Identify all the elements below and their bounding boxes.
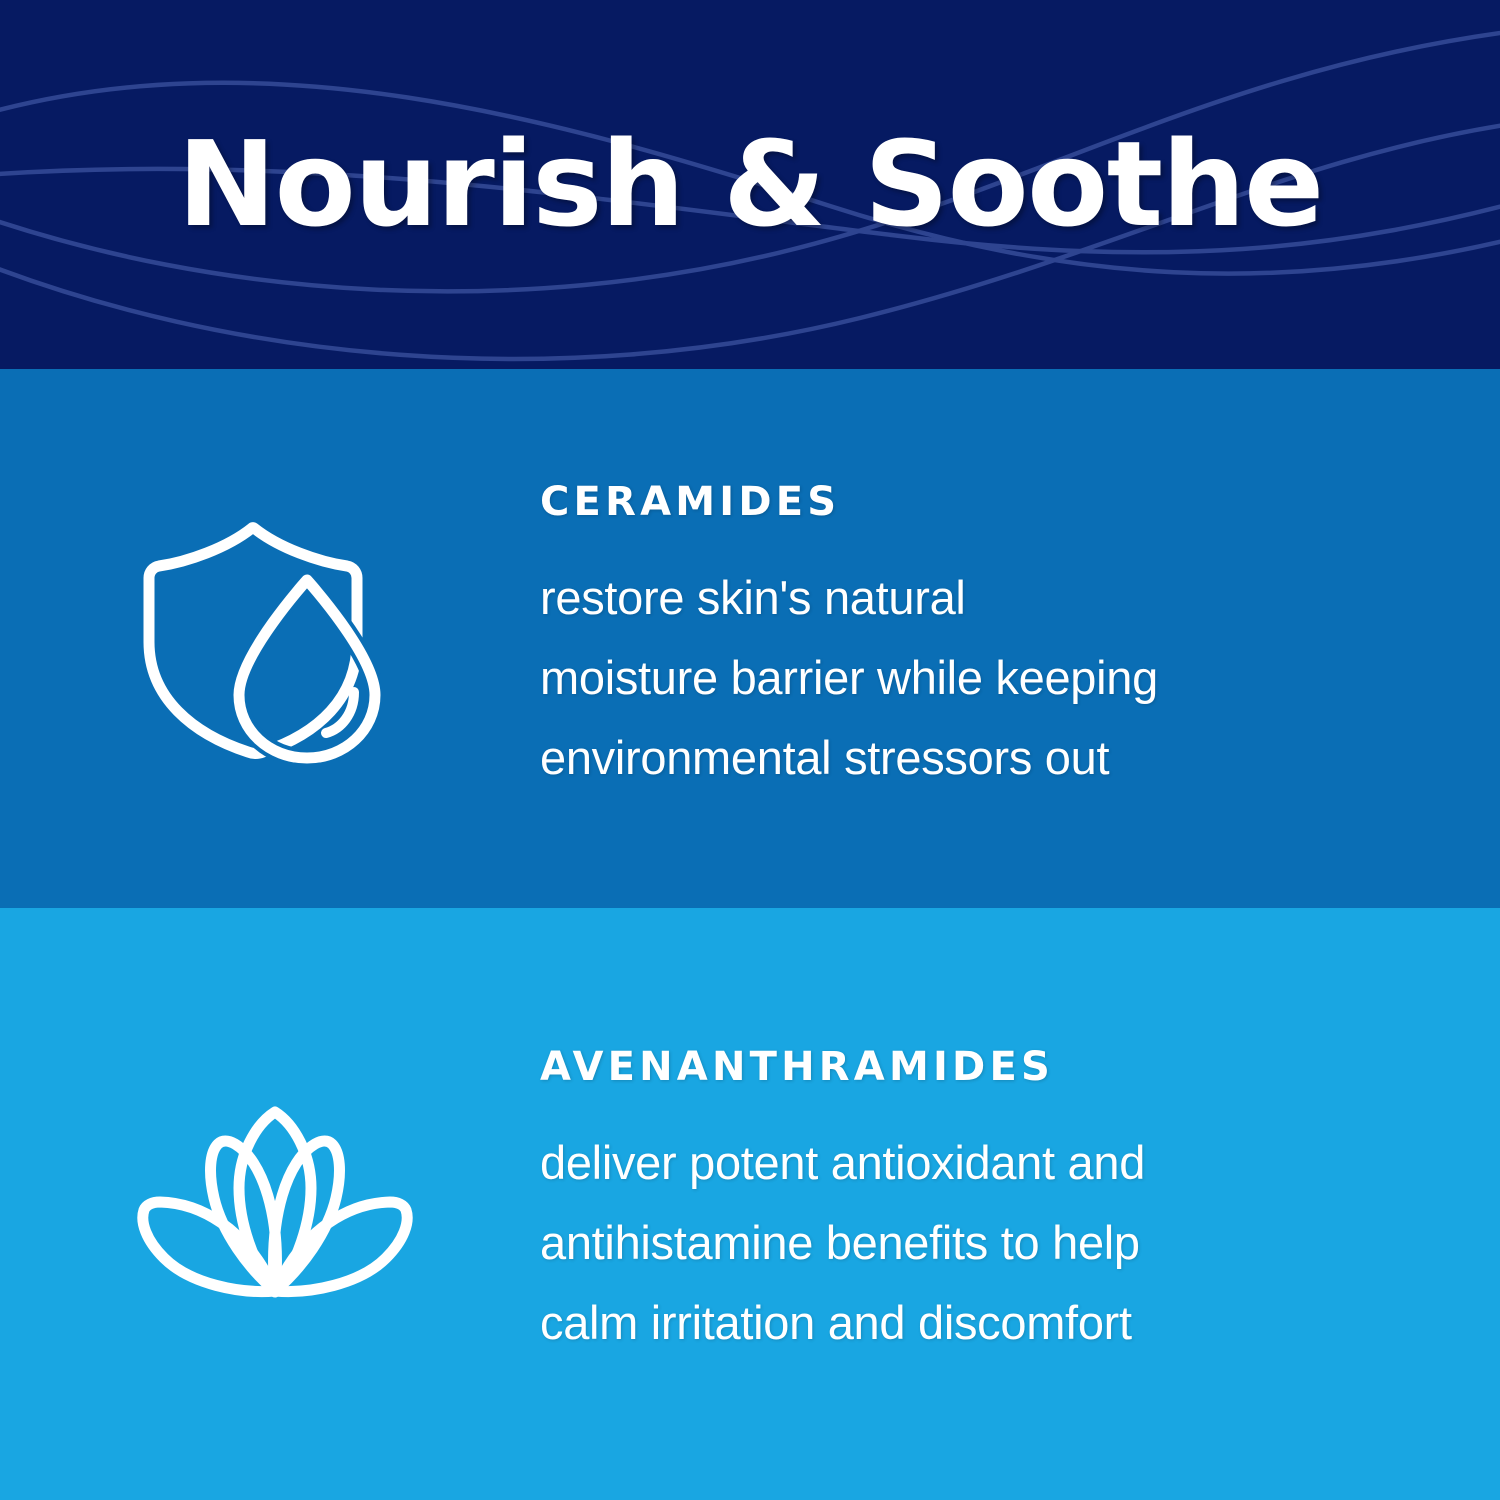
ceramides-body-line: environmental stressors out: [540, 718, 1380, 798]
ceramides-heading: CERAMIDES: [540, 480, 1380, 524]
poster-header: Nourish & Soothe: [0, 0, 1500, 369]
ceramides-body-line: restore skin's natural: [540, 558, 1380, 638]
ceramides-body: restore skin's natural moisture barrier …: [540, 558, 1380, 798]
ceramides-text-block: CERAMIDES restore skin's natural moistur…: [540, 480, 1500, 798]
ceramides-body-line: moisture barrier while keeping: [540, 638, 1380, 718]
avenanthramides-body: deliver potent antioxidant and antihista…: [540, 1123, 1380, 1363]
shield-droplet-icon: [135, 514, 415, 764]
avenanthramides-text-block: AVENANTHRAMIDES deliver potent antioxida…: [540, 1045, 1500, 1363]
avenanthramides-body-line: calm irritation and discomfort: [540, 1283, 1380, 1363]
ingredient-benefits-poster: Nourish & Soothe CERAMIDES restore skin'…: [0, 0, 1500, 1500]
avenanthramides-body-line: deliver potent antioxidant and: [540, 1123, 1380, 1203]
page-title: Nourish & Soothe: [0, 123, 1500, 247]
section-ceramides: CERAMIDES restore skin's natural moistur…: [0, 369, 1500, 908]
avenanthramides-heading: AVENANTHRAMIDES: [540, 1045, 1380, 1089]
ceramides-icon-wrapper: [0, 514, 540, 764]
avenanthramides-body-line: antihistamine benefits to help: [540, 1203, 1380, 1283]
lotus-flower-icon: [136, 1106, 414, 1302]
section-avenanthramides: AVENANTHRAMIDES deliver potent antioxida…: [0, 908, 1500, 1500]
avenanthramides-icon-wrapper: [0, 1106, 540, 1302]
